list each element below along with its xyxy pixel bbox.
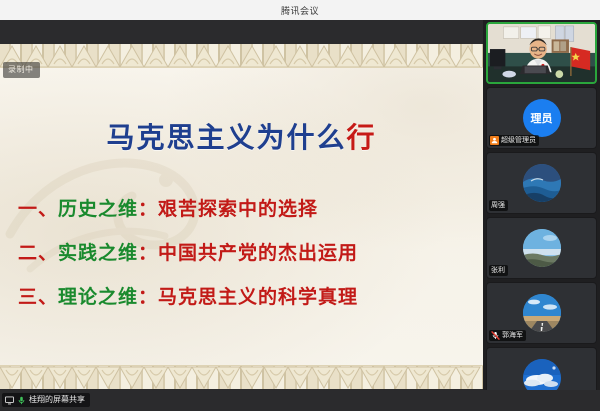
slide-content: 马克思主义为什么行 一、历史之维：艰苦探索中的选择 二、实践之维：中国共产党的杰…	[0, 68, 483, 365]
participant-name-bar: 张利	[489, 265, 508, 276]
tencent-meeting-window: 腾讯会议	[0, 0, 600, 411]
slide-title-accent: 行	[347, 121, 377, 154]
screen-share-indicator[interactable]: 桂翔的屏幕共享	[2, 393, 90, 407]
meeting-stage: 录制中 马克思主义为什么行 一、历史之维：艰苦探索中的选择 二、实践之维：中国共…	[0, 20, 600, 411]
participant-name: 张利	[491, 267, 505, 274]
participant-name: 郭海军	[502, 332, 523, 339]
slide-bullet: 二、实践之维：中国共产党的杰出运用	[18, 238, 478, 265]
participant-tile[interactable]: 周强	[486, 152, 597, 214]
avatar: 理员	[523, 99, 561, 137]
window-titlebar: 腾讯会议	[0, 0, 600, 20]
recording-badge: 录制中	[3, 62, 40, 78]
bullet-separator: ：	[138, 198, 158, 220]
bullet-text: 艰苦探索中的选择	[158, 198, 318, 220]
bullet-number: 三、	[18, 286, 58, 308]
avatar	[523, 294, 561, 332]
bullet-number: 二、	[18, 242, 58, 264]
participant-tile[interactable]: 郭海军	[486, 282, 597, 344]
avatar-photo	[523, 229, 561, 267]
slide-bullet: 一、历史之维：艰苦探索中的选择	[18, 194, 478, 221]
slide-title-main: 马克思主义为什么	[106, 121, 346, 154]
bullet-dimension: 历史之维	[58, 198, 138, 220]
mic-muted-icon	[491, 331, 500, 340]
participant-name-bar: 超级管理员	[489, 135, 539, 146]
bullet-text: 马克思主义的科学真理	[158, 286, 358, 308]
bullet-dimension: 理论之维	[58, 286, 138, 308]
participant-name: 超级管理员	[501, 137, 536, 144]
participant-name-bar: 周强	[489, 200, 508, 211]
shared-screen-area[interactable]: 录制中 马克思主义为什么行 一、历史之维：艰苦探索中的选择 二、实践之维：中国共…	[0, 44, 483, 389]
triangle-pattern-icon	[0, 366, 483, 389]
triangle-pattern-icon	[0, 44, 483, 68]
bullet-text: 中国共产党的杰出运用	[158, 242, 358, 264]
bullet-number: 一、	[18, 198, 58, 220]
bullet-separator: ：	[138, 286, 158, 308]
slide-bullet: 三、理论之维：马克思主义的科学真理	[18, 282, 478, 309]
bullet-dimension: 实践之维	[58, 242, 138, 264]
avatar-photo	[523, 294, 561, 332]
avatar-photo	[523, 164, 561, 202]
screen-share-label: 桂翔的屏幕共享	[29, 396, 85, 404]
participant-name: 周强	[491, 202, 505, 209]
avatar	[523, 164, 561, 202]
microphone-active-icon	[17, 396, 26, 405]
participant-tile[interactable]: 理员 超级管理员	[486, 87, 597, 149]
slide-border-top	[0, 44, 483, 68]
window-title: 腾讯会议	[281, 4, 319, 17]
participant-tile[interactable]	[486, 22, 597, 84]
avatar	[523, 229, 561, 267]
participant-name-bar: 郭海军	[489, 330, 526, 341]
bottom-bar: 桂翔的屏幕共享	[0, 390, 600, 411]
monitor-icon	[5, 396, 14, 405]
participant-strip[interactable]: 理员 超级管理员	[483, 20, 600, 411]
participant-tile[interactable]: 张利	[486, 217, 597, 279]
bullet-separator: ：	[138, 242, 158, 264]
host-icon	[490, 136, 499, 145]
slide-title: 马克思主义为什么行	[0, 116, 483, 156]
host-person-glyph	[491, 137, 498, 144]
webcam-video	[488, 24, 595, 84]
avatar-initials: 理员	[531, 110, 553, 126]
slide-border-bottom	[0, 365, 483, 389]
